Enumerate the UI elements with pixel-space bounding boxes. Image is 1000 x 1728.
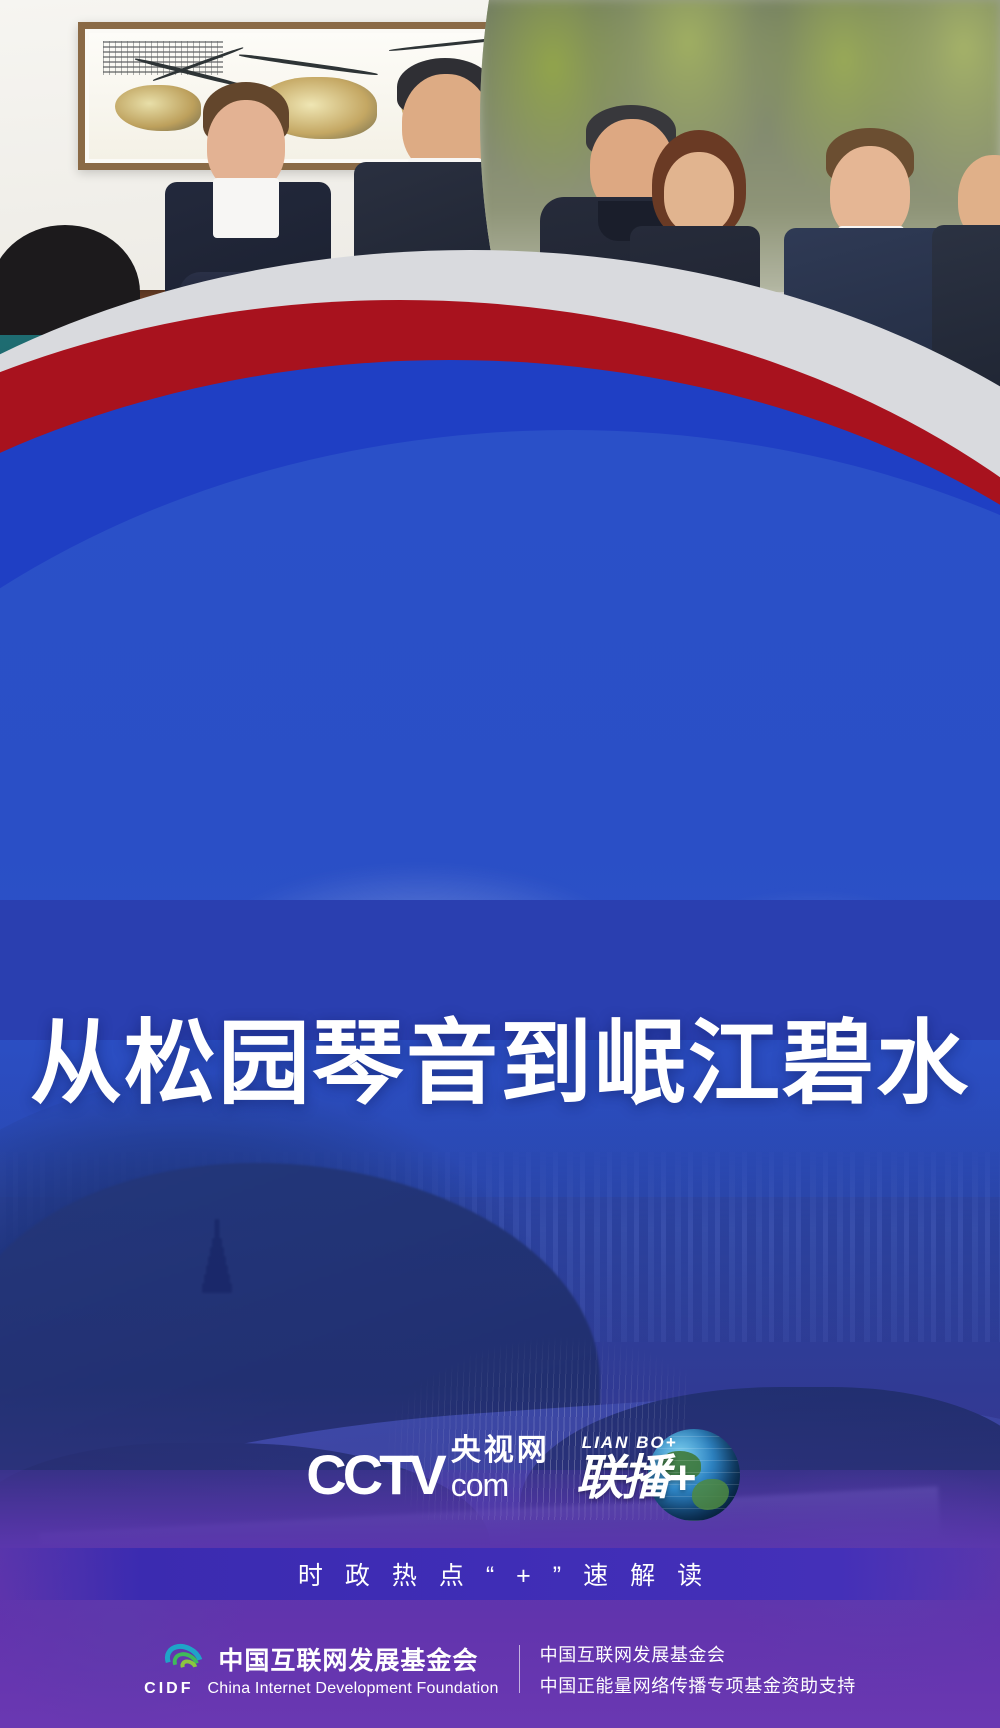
brand-logo-row: CCTV 央视网 com LIAN BO+ 联播+ bbox=[0, 1418, 1000, 1518]
cidf-abbreviation: CIDF bbox=[144, 1680, 193, 1698]
photo-band bbox=[0, 0, 1000, 680]
footer-credits: 中国互联网发展基金会 CIDF China Internet Developme… bbox=[0, 1626, 1000, 1712]
credit-line-1: 中国互联网发展基金会 bbox=[540, 1641, 856, 1667]
person-interpreter bbox=[630, 130, 760, 550]
footer-credit-lines: 中国互联网发展基金会 中国正能量网络传播专项基金资助支持 bbox=[540, 1641, 856, 1698]
cloud-1 bbox=[190, 860, 650, 900]
footer-divider bbox=[519, 1645, 520, 1693]
lianbo-chinese-label: 联播+ bbox=[576, 1455, 694, 1503]
aide-trousers bbox=[954, 497, 1000, 648]
cidf-swoosh-icon bbox=[164, 1641, 208, 1677]
aide-suit bbox=[932, 225, 1000, 505]
lianbo-english-label: LIAN BO+ bbox=[582, 1433, 678, 1453]
cidf-org-name-en: China Internet Development Foundation bbox=[207, 1680, 498, 1698]
cctv-chinese-name: 央视网 bbox=[451, 1436, 550, 1466]
cctv-wordmark: CCTV bbox=[306, 1449, 442, 1501]
guqin-instrument bbox=[130, 446, 360, 508]
credit-line-2: 中国正能量网络传播专项基金资助支持 bbox=[540, 1672, 856, 1698]
macron-shirt bbox=[213, 178, 279, 238]
interpreter-head bbox=[664, 152, 734, 234]
poster-root: 从松园琴音到岷江碧水 CCTV 央视网 com LIAN BO+ 联播+ 时政热… bbox=[0, 0, 1000, 1728]
macron-cuff bbox=[238, 275, 277, 314]
xi-trousers bbox=[386, 410, 510, 610]
tagline-bar: 时政热点“+”速解读 bbox=[0, 1548, 1000, 1600]
cidf-logo-block: 中国互联网发展基金会 CIDF China Internet Developme… bbox=[144, 1641, 498, 1698]
cloud-4 bbox=[650, 890, 970, 900]
person-aide bbox=[932, 155, 1000, 635]
cctv-com-suffix: com bbox=[451, 1469, 508, 1501]
interpreter-suit bbox=[630, 226, 760, 526]
cidf-org-name: 中国互联网发展基金会 bbox=[218, 1641, 478, 1677]
xi-belt bbox=[412, 306, 486, 322]
page-title: 从松园琴音到岷江碧水 bbox=[0, 1016, 1000, 1114]
macron-b-trousers bbox=[814, 488, 934, 648]
cctv-logo[interactable]: CCTV 央视网 com bbox=[306, 1436, 549, 1501]
tagline-text: 时政热点“+”速解读 bbox=[276, 1556, 724, 1592]
painting-calligraphy bbox=[103, 41, 223, 75]
lianbo-logo[interactable]: LIAN BO+ 联播+ bbox=[576, 1433, 694, 1503]
